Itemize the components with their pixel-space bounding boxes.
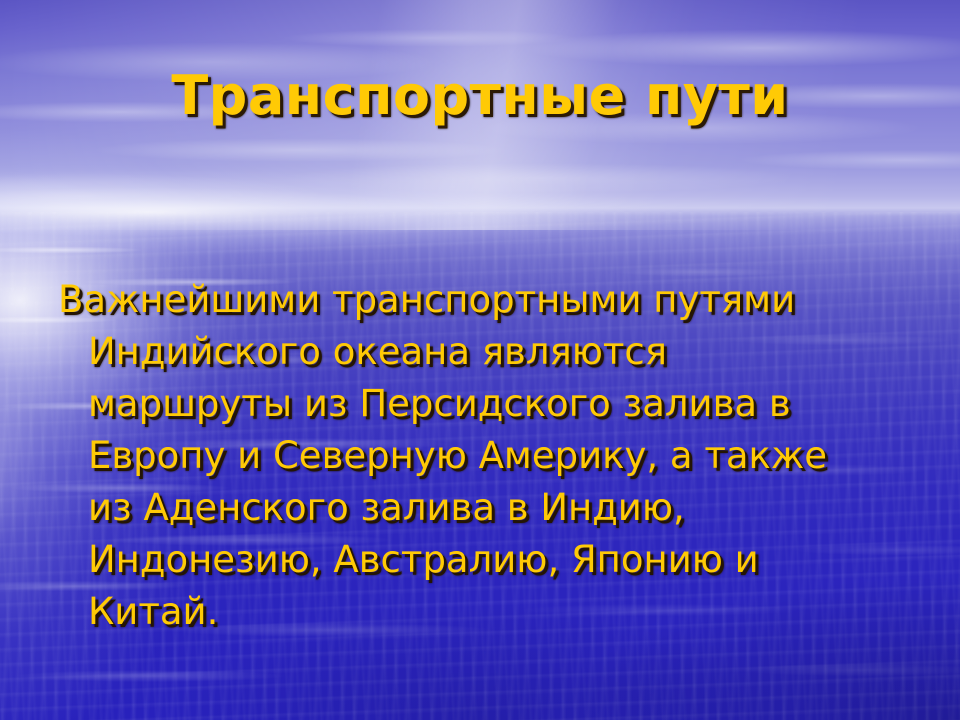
body-line-3: маршруты из Персидского залива в (88, 382, 791, 425)
body-line-7: Китай. (88, 590, 218, 633)
presentation-slide: Транспортные пути Важнейшими транспортны… (0, 0, 960, 720)
slide-title: Транспортные пути (0, 68, 960, 125)
body-line-2: Индийского океана являются (88, 330, 667, 373)
body-line-1: Важнейшими транспортными путями (58, 278, 795, 321)
body-line-6: Индонезию, Австралию, Японию и (88, 538, 759, 581)
slide-body-text: Важнейшими транспортными путями Индийско… (58, 274, 938, 638)
body-line-5: из Аденского залива в Индию, (88, 486, 685, 529)
body-line-4: Европу и Северную Америку, а также (88, 434, 827, 477)
